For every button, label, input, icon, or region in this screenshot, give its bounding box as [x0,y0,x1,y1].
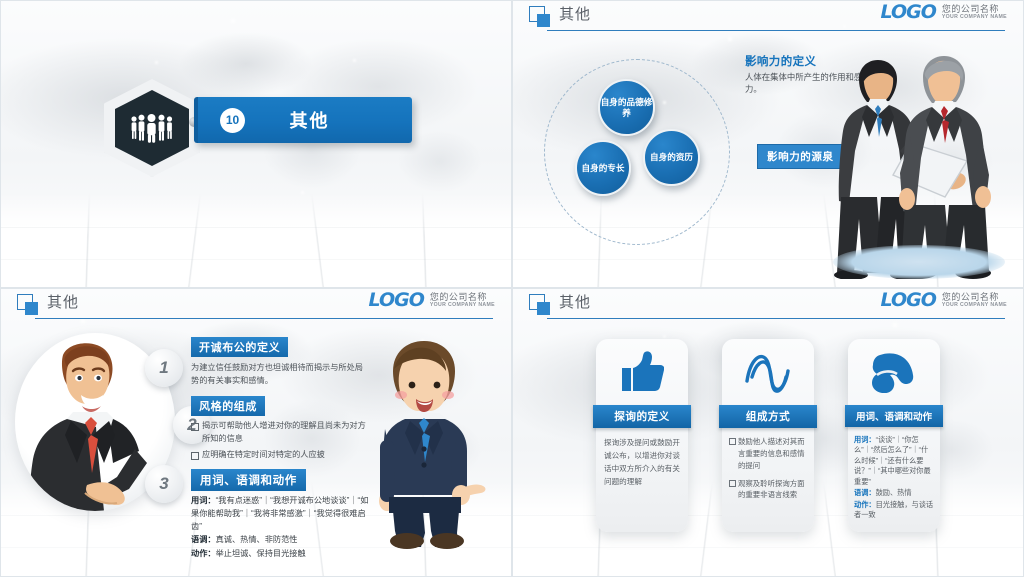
wording-key: 用词： [191,496,216,505]
step-number-1: 1 [145,349,183,387]
bubble-expertise[interactable]: 自身的专长 [575,140,631,196]
openness-content-column: 开诚布公的定义 为建立信任鼓励对方也坦诚相待而揭示与所处局势的有关事实和感情。 … [191,337,371,562]
pointing-boy-svg [363,337,491,549]
slide-3-openness: 其他 LOGO 您的公司名称 YOUR COMPANY NAME [0,288,512,577]
thumbs-up-icon [596,339,688,405]
perspective-floor-background [1,193,511,287]
company-name-en: YOUR COMPANY NAME [430,303,495,309]
header-square-mark-icon [529,294,551,316]
card-tone-key: 语调： [854,488,876,497]
wave-ribbon-icon [722,339,814,405]
section-hex-icon-badge [104,79,200,177]
style-bullet-1: 揭示可帮助他人增进对你的理解且尚未为对方所知的信息 [191,420,371,445]
tone-row: 语调：真诚、热情、非防范性 [191,534,371,547]
action-key: 动作： [191,549,216,558]
section-title-text: 其他 [245,107,374,133]
card-wording-row: 用词：“谈谈”｜“你怎么”｜“然后怎么了”｜“什么时候”｜“还有什么要说？”｜“… [854,435,934,487]
header-square-mark-icon [17,294,39,316]
company-logo: LOGO 您的公司名称 YOUR COMPANY NAME [881,3,1007,22]
card-tone-value: 鼓励、热情 [876,488,912,497]
step-number-3: 3 [145,465,183,503]
company-logo: LOGO 您的公司名称 YOUR COMPANY NAME [881,291,1007,310]
slide-header: 其他 LOGO 您的公司名称 YOUR COMPANY NAME [1,289,511,323]
block-title-definition: 开诚布公的定义 [191,337,288,357]
card-title: 组成方式 [719,405,817,428]
logo-text: LOGO [881,3,936,22]
bubble-moral-cultivation[interactable]: 自身的品德修养 [598,79,655,136]
podium-shadow [833,245,1005,279]
wording-row: 用词：“我有点迷惑”｜“我想开诚布公地谈谈”｜“如果你能帮助我”｜“我将非常感激… [191,495,371,533]
pointing-boy-illustration [363,337,491,549]
businessmen-illustration [815,47,1019,279]
slide-4-inquiry: 其他 LOGO 您的公司名称 YOUR COMPANY NAME 探询的定义 [512,288,1024,577]
section-number: 10 [220,108,245,133]
inquiry-card-row: 探询的定义 探询涉及提问或鼓励开诚公布，以增进你对谈话中双方所介入的有关问题的理… [513,339,1023,532]
block-title-wording: 用词、语调和动作 [191,469,306,491]
slide-header: 其他 LOGO 您的公司名称 YOUR COMPANY NAME [513,1,1023,35]
card-wording-key: 用词： [854,435,876,444]
card-composition-method[interactable]: 组成方式 鼓励他人描述对其而言重要的信息和感情的提问 观察及聆听探询方面的重要非… [722,339,814,532]
company-name-en: YOUR COMPANY NAME [942,15,1007,21]
logo-text: LOGO [369,291,424,310]
company-name-en: YOUR COMPANY NAME [942,303,1007,309]
card-bullet-2: 观察及聆听探询方面的重要非语言线索 [729,478,807,502]
card-inquiry-definition[interactable]: 探询的定义 探询涉及提问或鼓励开诚公布，以增进你对谈话中双方所介入的有关问题的理… [596,339,688,532]
header-underline [35,318,493,320]
bubble-seniority[interactable]: 自身的资历 [643,129,700,186]
muscle-arm-icon [848,339,940,405]
tone-key: 语调： [191,535,216,544]
header-title: 其他 [47,291,79,312]
slide-1-section-divider: 10 其他 [0,0,512,288]
card-title: 用词、语调和动作 [845,405,943,427]
card-title: 探询的定义 [593,405,691,428]
action-value: 举止坦诚、保持目光接触 [216,549,306,558]
wording-value: “我有点迷惑”｜“我想开诚布公地谈谈”｜“如果你能帮助我”｜“我将非常感激”｜“… [191,496,368,530]
slide-header: 其他 LOGO 您的公司名称 YOUR COMPANY NAME [513,289,1023,323]
header-title: 其他 [559,3,591,24]
header-underline [547,318,1005,320]
action-row: 动作：举止坦诚、保持目光接触 [191,548,371,561]
company-logo: LOGO 您的公司名称 YOUR COMPANY NAME [369,291,495,310]
header-square-mark-icon [529,6,551,28]
card-bullet-1: 鼓励他人描述对其而言重要的信息和感情的提问 [729,436,807,472]
world-map-background [1,1,511,287]
card-body: 探询涉及提问或鼓励开诚公布，以增进你对谈话中双方所介入的有关问题的理解 [604,436,680,488]
card-tone-row: 语调：鼓励、热情 [854,488,934,498]
section-title-banner[interactable]: 10 其他 [194,97,412,143]
card-action-key: 动作： [854,500,876,509]
slide-2-influence: 其他 LOGO 您的公司名称 YOUR COMPANY NAME 自身的品德修养… [512,0,1024,288]
people-group-icon [129,113,175,143]
slide-grid: 10 其他 其他 LOGO 您的公司名称 YOUR COMPANY NAME [0,0,1024,577]
logo-text: LOGO [881,291,936,310]
header-title: 其他 [559,291,591,312]
card-wording-tone-action[interactable]: 用词、语调和动作 用词：“谈谈”｜“你怎么”｜“然后怎么了”｜“什么时候”｜“还… [848,339,940,532]
header-underline [547,30,1005,32]
tone-value: 真诚、热情、非防范性 [216,535,298,544]
style-bullet-2: 应明确在特定时间对特定的人应披 [191,449,371,462]
block-title-style: 风格的组成 [191,396,265,416]
card-action-row: 动作：目光接触，与谈话者一致 [854,500,934,521]
block-body-definition: 为建立信任鼓励对方也坦诚相待而揭示与所处局势的有关事实和感情。 [191,361,371,387]
